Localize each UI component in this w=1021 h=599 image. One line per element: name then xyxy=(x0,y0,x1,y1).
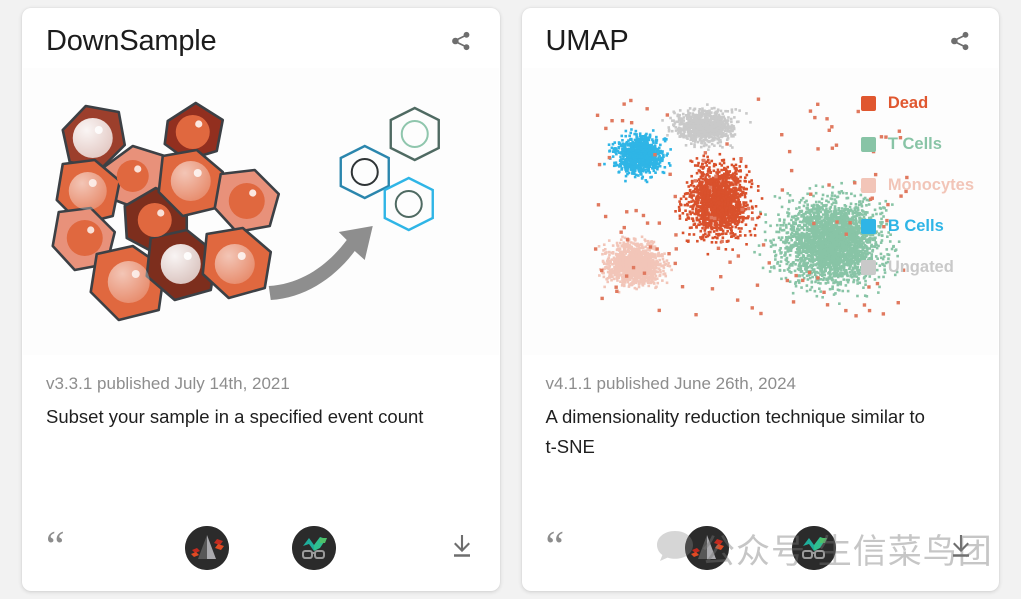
legend-label: B Cells xyxy=(888,217,944,236)
card-header: UMAP xyxy=(522,8,1000,68)
nerd-glasses-logo-button[interactable] xyxy=(760,526,867,570)
nerd-glasses-logo-icon xyxy=(792,526,836,570)
version-text: v3.3.1 published July 14th, 2021 xyxy=(46,371,476,397)
download-button[interactable] xyxy=(868,532,975,565)
share-icon[interactable] xyxy=(945,26,975,56)
app-root: DownSample xyxy=(0,0,1021,599)
pyramid-logo-button[interactable] xyxy=(653,526,760,570)
legend-swatch-icon xyxy=(861,96,876,111)
download-button[interactable] xyxy=(368,532,475,565)
legend-item[interactable]: T Cells xyxy=(861,135,974,154)
legend-label: T Cells xyxy=(888,135,942,154)
description-text: A dimensionality reduction technique sim… xyxy=(546,402,941,462)
card-body: v3.3.1 published July 14th, 2021 Subset … xyxy=(22,355,500,505)
legend-swatch-icon xyxy=(861,219,876,234)
page-title: DownSample xyxy=(46,26,216,56)
page-title: UMAP xyxy=(546,26,629,56)
umap-scatter-plot: DeadT CellsMonocytesB CellsUngated xyxy=(523,68,999,355)
legend-item[interactable]: B Cells xyxy=(861,217,974,236)
card-body: v4.1.1 published June 26th, 2024 A dimen… xyxy=(522,355,1000,505)
version-text: v4.1.1 published June 26th, 2024 xyxy=(546,371,976,397)
scatter-cluster-dead xyxy=(674,153,763,256)
tool-card-downsample[interactable]: DownSample xyxy=(22,8,500,591)
legend-swatch-icon xyxy=(861,178,876,193)
cite-button[interactable]: “ xyxy=(46,536,153,559)
card-footer: “ xyxy=(522,505,1000,591)
chart-legend: DeadT CellsMonocytesB CellsUngated xyxy=(861,94,974,277)
tool-card-umap[interactable]: UMAP DeadT CellsMonocytesB CellsUngated … xyxy=(522,8,1000,591)
legend-label: Dead xyxy=(888,94,928,113)
quote-icon: “ xyxy=(546,536,565,559)
legend-swatch-icon xyxy=(861,137,876,152)
legend-item[interactable]: Dead xyxy=(861,94,974,113)
scatter-cluster-monocytes xyxy=(597,236,672,294)
legend-label: Ungated xyxy=(888,258,954,277)
nerd-glasses-logo-icon xyxy=(292,526,336,570)
quote-icon: “ xyxy=(46,536,65,559)
card-footer: “ xyxy=(22,505,500,591)
legend-item[interactable]: Monocytes xyxy=(861,176,974,195)
card-header: DownSample xyxy=(22,8,500,68)
hexagon-downsample-diagram xyxy=(23,68,499,355)
scatter-cluster-ungated xyxy=(661,104,752,152)
download-icon xyxy=(947,532,975,565)
legend-item[interactable]: Ungated xyxy=(861,258,974,277)
description-text: Subset your sample in a specified event … xyxy=(46,402,441,432)
cite-button[interactable]: “ xyxy=(546,536,653,559)
pyramid-logo-button[interactable] xyxy=(153,526,260,570)
share-icon[interactable] xyxy=(446,26,476,56)
legend-swatch-icon xyxy=(861,260,876,275)
scatter-cluster-b-cells xyxy=(603,129,672,184)
pyramid-logo-icon xyxy=(185,526,229,570)
nerd-glasses-logo-button[interactable] xyxy=(261,526,368,570)
download-icon xyxy=(448,532,476,565)
legend-label: Monocytes xyxy=(888,176,974,195)
pyramid-logo-icon xyxy=(685,526,729,570)
